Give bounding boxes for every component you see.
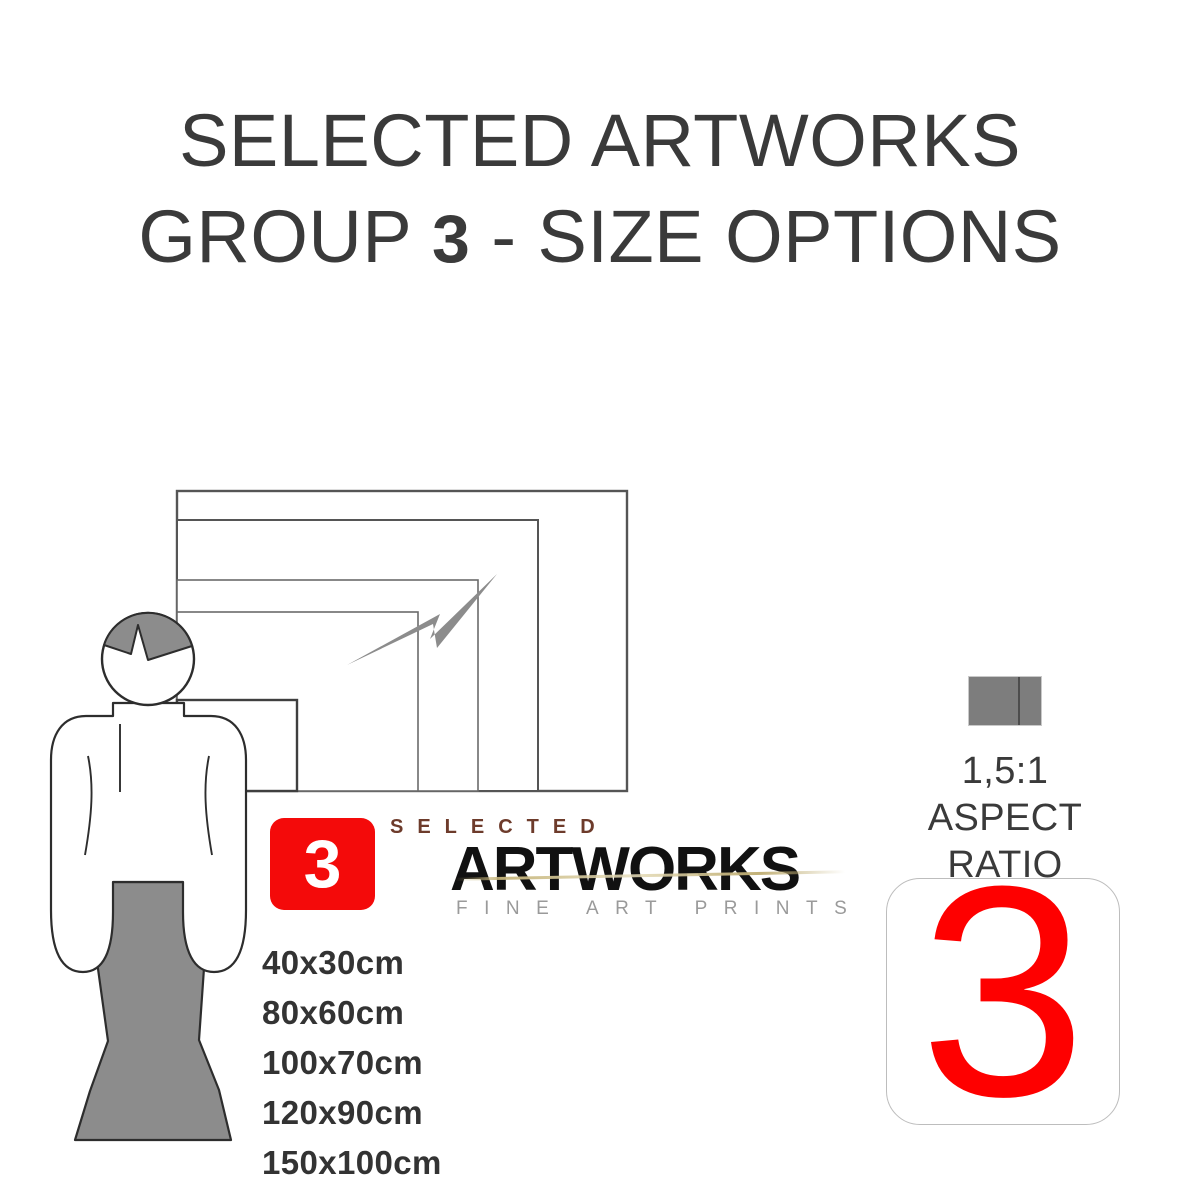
- poster-canvas: SELECTED ARTWORKS GROUP 3 - SIZE OPTIONS: [0, 0, 1200, 1200]
- size-options-list: 40x30cm 80x60cm 100x70cm 120x90cm 150x10…: [262, 938, 592, 1188]
- size-option-item: 40x30cm: [262, 938, 592, 988]
- size-option-item: 100x70cm: [262, 1038, 592, 1088]
- logo-word-artworks: ARTWORKS: [450, 834, 799, 905]
- aspect-ratio-label-line-1: ASPECT: [900, 795, 1110, 842]
- aspect-swatch-divider: [1018, 677, 1020, 725]
- logo-tagline: FINE ART PRINTS: [456, 898, 863, 920]
- size-option-item: 80x60cm: [262, 988, 592, 1038]
- logo-group-badge: 3: [270, 818, 375, 910]
- size-option-item: 150x100cm: [262, 1138, 592, 1188]
- group-number-glyph: 3: [887, 878, 1119, 1125]
- aspect-ratio-swatch-icon: [968, 676, 1042, 726]
- aspect-ratio-value: 1,5:1: [900, 748, 1110, 795]
- brand-logo: 3 SELECTED ARTWORKS FINE ART PRINTS: [270, 812, 840, 927]
- aspect-ratio-block: 1,5:1 ASPECT RATIO: [900, 676, 1110, 889]
- size-option-item: 120x90cm: [262, 1088, 592, 1138]
- group-number-tile: 3: [886, 878, 1120, 1125]
